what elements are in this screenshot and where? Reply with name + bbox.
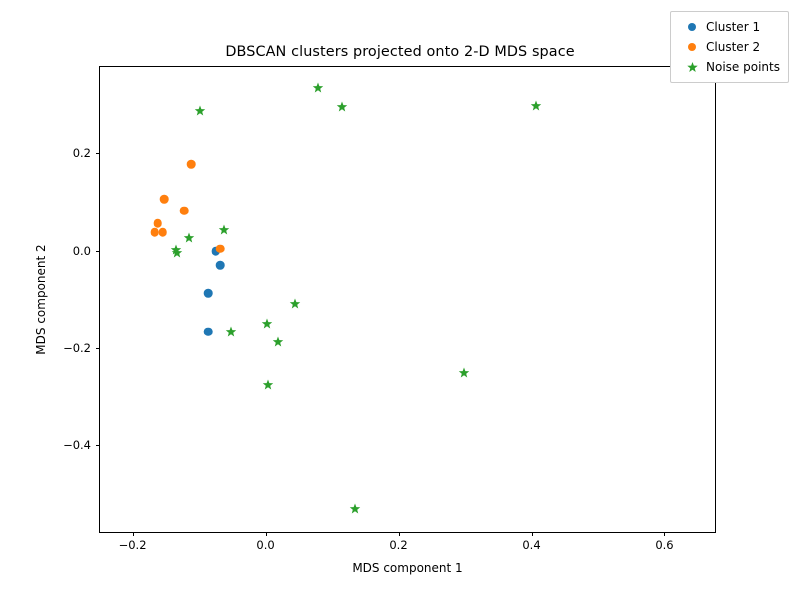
- marker-circle: [160, 195, 169, 204]
- x-tick-mark: [133, 532, 134, 536]
- y-tick-label: −0.2: [63, 341, 91, 355]
- y-tick-mark: [96, 445, 100, 446]
- data-point: [337, 101, 348, 112]
- x-tick-mark: [399, 532, 400, 536]
- marker-circle: [180, 206, 189, 215]
- data-point: [180, 206, 189, 215]
- legend-item-label: Cluster 2: [706, 40, 760, 54]
- data-point: [158, 228, 167, 237]
- legend-item-label: Cluster 1: [706, 20, 760, 34]
- data-point: [531, 101, 542, 112]
- data-point: [204, 289, 213, 298]
- data-point: [216, 244, 225, 253]
- y-tick-label: 0.0: [73, 244, 91, 258]
- data-point: [273, 337, 284, 348]
- y-tick-label: −0.4: [63, 438, 91, 452]
- y-tick-mark: [96, 348, 100, 349]
- data-point: [154, 219, 163, 228]
- x-tick-label: 0.0: [256, 538, 274, 552]
- data-point: [263, 379, 274, 390]
- figure-canvas: DBSCAN clusters projected onto 2-D MDS s…: [0, 0, 800, 600]
- y-tick-mark: [96, 153, 100, 154]
- legend-item-cluster-1[interactable]: Cluster 1: [678, 17, 780, 37]
- data-point: [225, 327, 236, 338]
- data-point: [160, 195, 169, 204]
- y-tick-mark: [96, 251, 100, 252]
- x-tick-label: −0.2: [119, 538, 147, 552]
- data-point: [184, 233, 195, 244]
- data-point: [187, 160, 196, 169]
- x-tick-mark: [266, 532, 267, 536]
- data-point: [216, 261, 225, 270]
- x-tick-mark: [664, 532, 665, 536]
- data-point: [204, 327, 213, 336]
- y-tick-label: 0.2: [73, 146, 91, 160]
- data-point: [261, 319, 272, 330]
- data-point: [349, 504, 360, 515]
- legend-item-label: Noise points: [706, 60, 780, 74]
- data-point: [172, 248, 183, 259]
- x-tick-label: 0.2: [389, 538, 407, 552]
- legend-item-noise-points[interactable]: Noise points: [678, 57, 780, 77]
- marker-circle: [204, 327, 213, 336]
- data-points-layer: [100, 67, 715, 532]
- circle-marker-icon: [678, 23, 706, 32]
- y-axis-label: MDS component 2: [34, 66, 48, 533]
- marker-circle: [187, 160, 196, 169]
- data-point: [219, 224, 230, 235]
- marker-circle: [216, 261, 225, 270]
- x-tick-label: 0.6: [655, 538, 673, 552]
- legend: Cluster 1Cluster 2Noise points: [670, 11, 789, 83]
- data-point: [290, 298, 301, 309]
- x-tick-label: 0.4: [522, 538, 540, 552]
- x-axis-label: MDS component 1: [99, 561, 716, 575]
- marker-circle: [158, 228, 167, 237]
- marker-circle: [204, 289, 213, 298]
- x-tick-mark: [532, 532, 533, 536]
- data-point: [194, 106, 205, 117]
- data-point: [459, 367, 470, 378]
- data-point: [313, 82, 324, 93]
- star-marker-icon: [678, 62, 706, 73]
- legend-item-cluster-2[interactable]: Cluster 2: [678, 37, 780, 57]
- plot-area: −0.20.00.20.40.6 0.20.0−0.2−0.4: [99, 66, 716, 533]
- marker-circle: [216, 244, 225, 253]
- circle-marker-icon: [678, 43, 706, 52]
- marker-circle: [154, 219, 163, 228]
